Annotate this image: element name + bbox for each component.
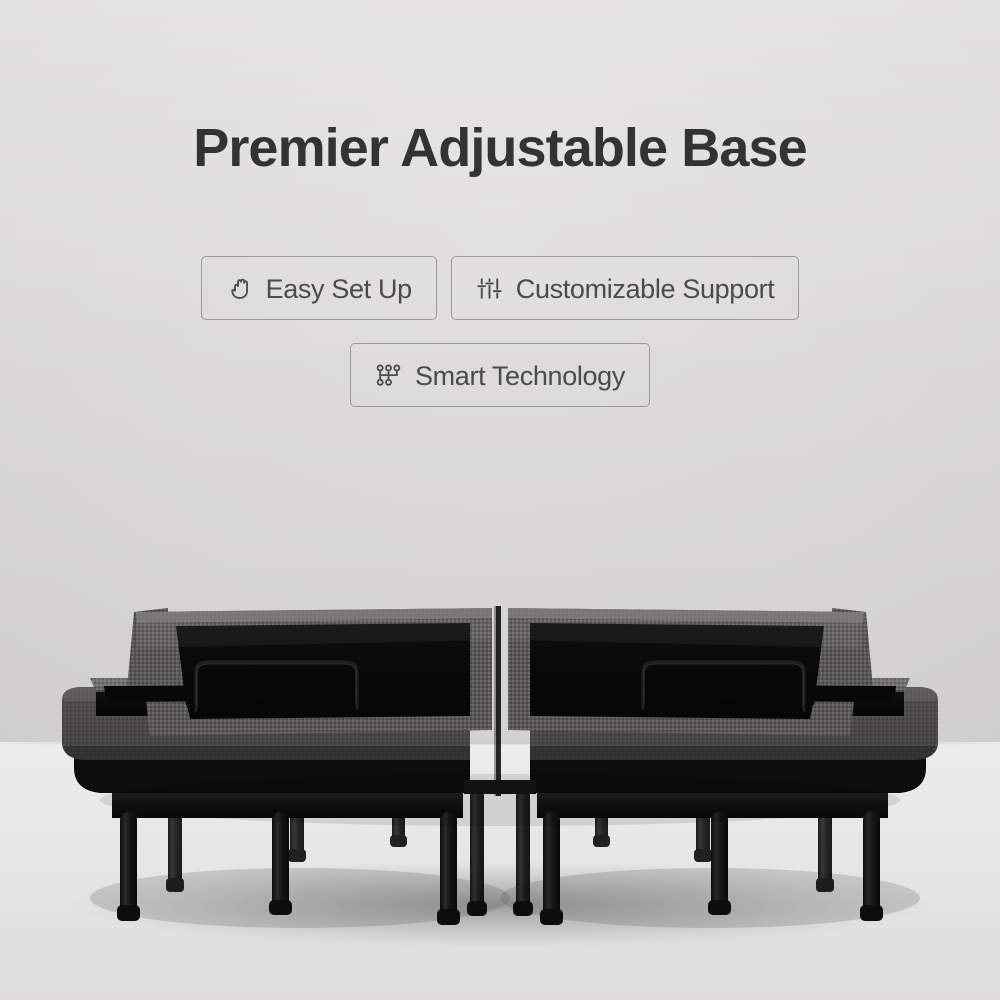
feature-pill-label: Customizable Support [516, 276, 775, 303]
product-banner: Premier Adjustable Base Easy Set Up [0, 0, 1000, 1000]
hand-icon [224, 273, 255, 304]
feature-pill-label: Smart Technology [415, 363, 625, 390]
studio-floor [0, 742, 1000, 1000]
network-nodes-icon [373, 360, 404, 391]
feature-pill-easy-set-up[interactable]: Easy Set Up [201, 256, 437, 320]
feature-pill-row: Smart Technology [0, 343, 1000, 407]
wall-floor-seam [0, 742, 1000, 744]
page-title: Premier Adjustable Base [0, 117, 1000, 179]
feature-pill-customizable-support[interactable]: Customizable Support [451, 256, 800, 320]
sliders-icon [474, 273, 505, 304]
feature-pill-label: Easy Set Up [266, 276, 412, 303]
feature-pill-group: Easy Set Up Customiz [0, 256, 1000, 407]
feature-pill-smart-technology[interactable]: Smart Technology [350, 343, 650, 407]
feature-pill-row: Easy Set Up Customiz [0, 256, 1000, 320]
